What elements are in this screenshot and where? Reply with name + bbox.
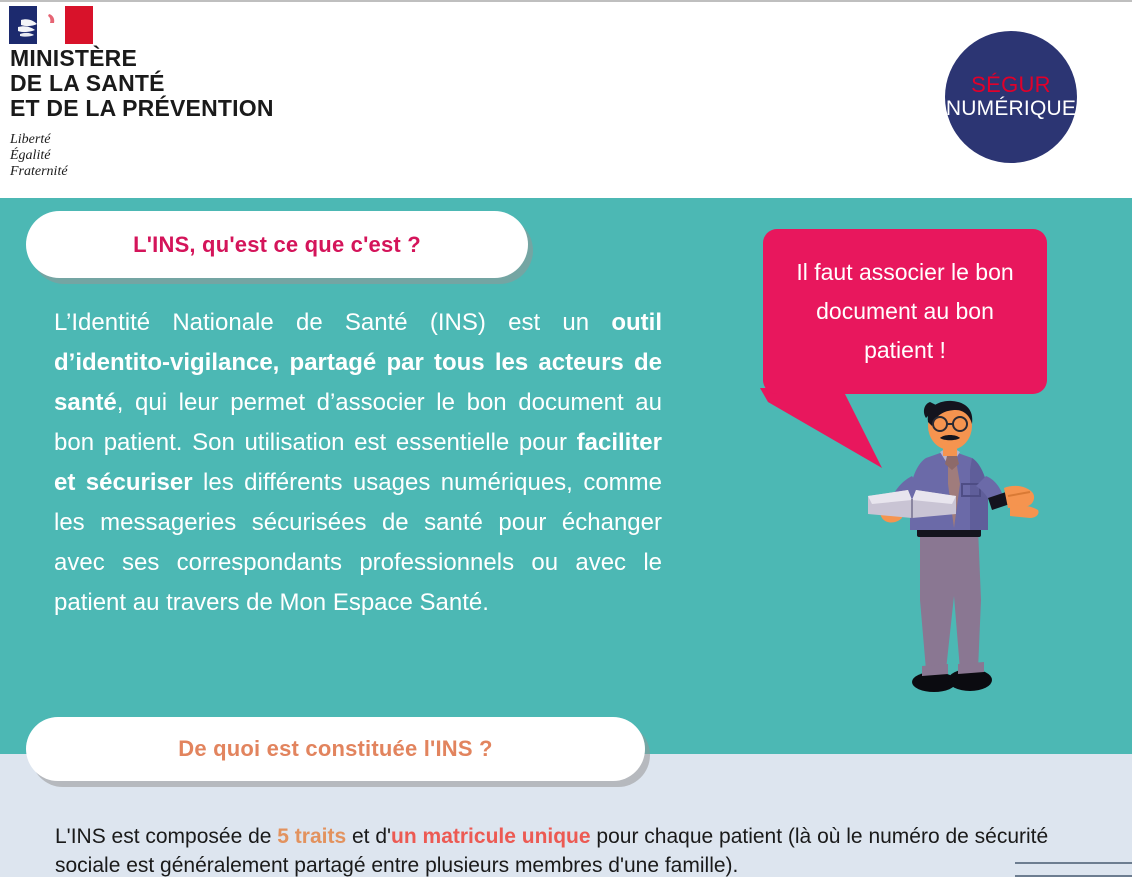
ins-definition-part-0: L’Identité Nationale de Santé (INS) est … xyxy=(54,309,611,336)
motto-egalite: Égalité xyxy=(10,148,68,164)
ministry-line-2: DE LA SANTÉ xyxy=(10,71,274,96)
ins-composition-part-3: un matricule unique xyxy=(391,825,591,848)
ins-composition-part-0: L'INS est composée de xyxy=(55,825,277,848)
motto-fraternite: Fraternité xyxy=(10,164,68,180)
ins-definition-part-2: , qui leur permet d’associer le bon docu… xyxy=(54,389,662,456)
section-heading-pill-ins-composition[interactable]: De quoi est constituée l'INS ? xyxy=(26,717,645,781)
bottom-right-rule-upper xyxy=(1015,862,1132,864)
republic-motto: Liberté Égalité Fraternité xyxy=(10,132,68,180)
pill-label-ins-composition: De quoi est constituée l'INS ? xyxy=(178,736,492,762)
ins-composition-part-1: 5 traits xyxy=(277,825,346,848)
page-header: MINISTÈRE DE LA SANTÉ ET DE LA PRÉVENTIO… xyxy=(0,2,1132,198)
slide-page: MINISTÈRE DE LA SANTÉ ET DE LA PRÉVENTIO… xyxy=(0,0,1132,877)
speech-bubble-text: Il faut associer le bon document au bon … xyxy=(763,253,1047,370)
segur-logo-top-label: SÉGUR xyxy=(971,73,1051,97)
french-republic-marianne-logo xyxy=(9,6,93,44)
ministry-title: MINISTÈRE DE LA SANTÉ ET DE LA PRÉVENTIO… xyxy=(10,46,274,121)
ministry-line-3: ET DE LA PRÉVENTION xyxy=(10,96,274,121)
motto-liberte: Liberté xyxy=(10,132,68,148)
ins-composition-paragraph: L'INS est composée de 5 traits et d'un m… xyxy=(55,822,1065,877)
segur-logo-bottom-label: NUMÉRIQUE xyxy=(946,97,1076,121)
speech-bubble: Il faut associer le bon document au bon … xyxy=(763,229,1047,394)
man-holding-open-book-illustration xyxy=(860,400,1040,700)
section-heading-pill-what-is-ins[interactable]: L'INS, qu'est ce que c'est ? xyxy=(26,211,528,278)
segur-numerique-logo: SÉGUR NUMÉRIQUE xyxy=(945,31,1077,163)
pill-label-what-is-ins: L'INS, qu'est ce que c'est ? xyxy=(133,232,421,258)
ins-composition-part-2: et d' xyxy=(346,825,391,848)
ins-definition-paragraph: L’Identité Nationale de Santé (INS) est … xyxy=(54,303,662,623)
ministry-line-1: MINISTÈRE xyxy=(10,46,274,71)
